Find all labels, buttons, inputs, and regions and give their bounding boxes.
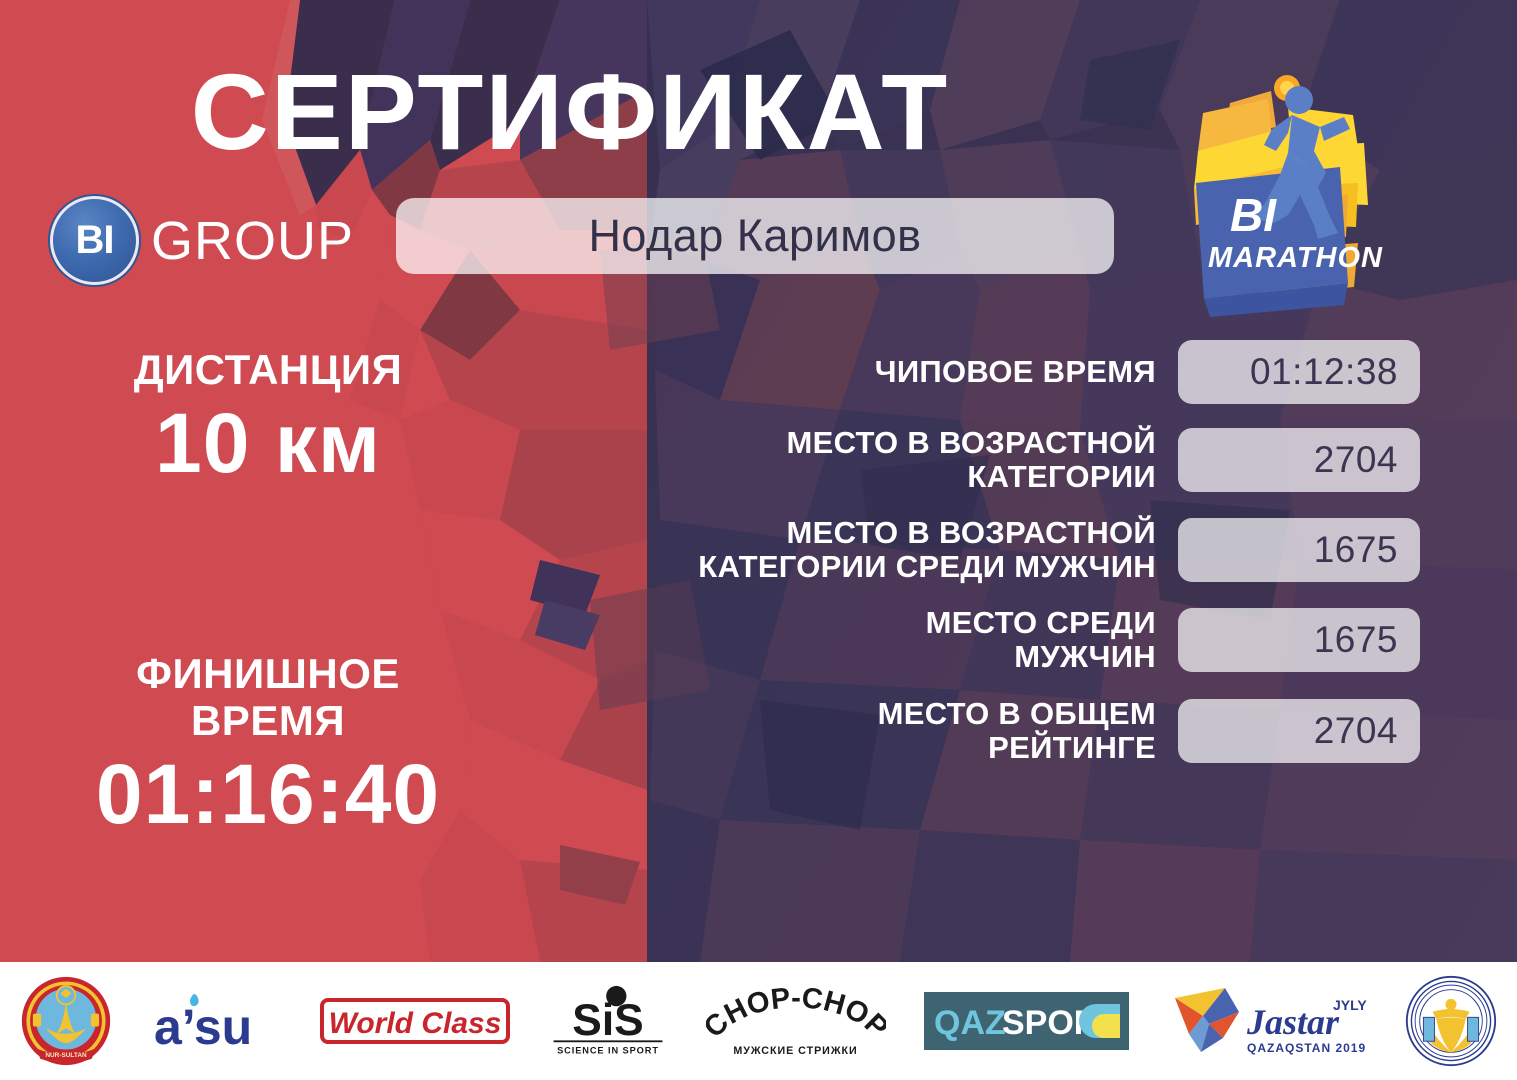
world-class-logo-icon: World Class <box>320 990 510 1052</box>
jastar-wordmark: Jastar <box>1246 1002 1340 1042</box>
distance-label: ДИСТАНЦИЯ <box>8 346 528 393</box>
bi-marathon-logo: BI MARATHON <box>1168 55 1408 320</box>
bi-group-logo: BI GROUP <box>50 196 354 285</box>
sponsor-world-class: World Class <box>320 971 510 1071</box>
sponsor-nur-sultan-emblem: NUR-SULTAN <box>20 975 112 1067</box>
participant-name-field: Нодар Каримов <box>396 198 1114 274</box>
stat-label-age-category-men-place: МЕСТО В ВОЗРАСТНОЙ КАТЕГОРИИ СРЕДИ МУЖЧИ… <box>620 516 1178 584</box>
stat-label-age-category-place: МЕСТО В ВОЗРАСТНОЙ КАТЕГОРИИ <box>620 426 1178 494</box>
svg-text:CHOP-CHOP: CHOP-CHOP <box>706 984 886 1044</box>
nur-sultan-emblem-icon: NUR-SULTAN <box>20 975 112 1067</box>
jastar-superscript: JYLY <box>1333 997 1367 1013</box>
finish-time-block: ФИНИШНОЕ ВРЕМЯ 01:16:40 <box>8 650 528 840</box>
sponsor-jastar-jyly: Jastar JYLY QAZAQSTAN 2019 <box>1167 971 1367 1071</box>
sponsor-bar: NUR-SULTAN a’su World Class SiS SCIENCE … <box>0 962 1517 1080</box>
participant-name: Нодар Каримов <box>588 210 921 262</box>
sis-logo-icon: SiS SCIENCE IN SPORT <box>548 985 668 1057</box>
stats-panel: ЧИПОВОЕ ВРЕМЯ 01:12:38 МЕСТО В ВОЗРАСТНО… <box>620 340 1420 787</box>
asu-logo-icon: a’su <box>150 986 282 1056</box>
stat-value-age-category-men-place: 1675 <box>1178 518 1420 582</box>
finish-time-value: 01:16:40 <box>8 748 528 840</box>
stat-row: МЕСТО В ОБЩЕМ РЕЙТИНГЕ 2704 <box>620 697 1420 765</box>
bi-group-wordmark: GROUP <box>151 210 354 272</box>
chop-chop-logo-icon: CHOP-CHOP МУЖСКИЕ СТРИЖКИ <box>706 984 886 1058</box>
distance-value: 10 км <box>8 397 528 489</box>
stat-value-men-place: 1675 <box>1178 608 1420 672</box>
stat-row: МЕСТО В ВОЗРАСТНОЙ КАТЕГОРИИ СРЕДИ МУЖЧИ… <box>620 516 1420 584</box>
nur-sultan-label: NUR-SULTAN <box>45 1052 87 1059</box>
stat-label-chip-time: ЧИПОВОЕ ВРЕМЯ <box>620 355 1178 389</box>
jastar-subtitle: QAZAQSTAN 2019 <box>1247 1041 1366 1055</box>
sponsor-qazsport: QAZ SPORT <box>924 971 1129 1071</box>
qazsport-logo-icon: QAZ SPORT <box>924 992 1129 1050</box>
qazsport-text-qaz: QAZ <box>934 1004 1006 1042</box>
certificate-canvas: СЕРТИФИКАТ BI GROUP Нодар Каримов <box>0 0 1517 1080</box>
sponsor-sis: SiS SCIENCE IN SPORT <box>548 971 668 1071</box>
stat-value-chip-time: 01:12:38 <box>1178 340 1420 404</box>
sponsor-chop-chop: CHOP-CHOP МУЖСКИЕ СТРИЖКИ <box>706 971 886 1071</box>
bi-badge-icon: BI <box>50 196 139 285</box>
marathon-logo-line2: MARATHON <box>1208 242 1383 274</box>
jastar-logo-icon: Jastar JYLY QAZAQSTAN 2019 <box>1167 982 1367 1060</box>
stat-value-overall-place: 2704 <box>1178 699 1420 763</box>
distance-block: ДИСТАНЦИЯ 10 км <box>8 346 528 489</box>
sponsor-ministry-emblem <box>1405 975 1497 1067</box>
stat-row: ЧИПОВОЕ ВРЕМЯ 01:12:38 <box>620 340 1420 404</box>
stat-value-age-category-place: 2704 <box>1178 428 1420 492</box>
sis-tagline: SCIENCE IN SPORT <box>557 1045 659 1055</box>
page-title: СЕРТИФИКАТ <box>0 58 1140 166</box>
stat-label-overall-place: МЕСТО В ОБЩЕМ РЕЙТИНГЕ <box>620 697 1178 765</box>
sponsor-asu: a’su <box>150 971 282 1071</box>
chop-chop-tagline: МУЖСКИЕ СТРИЖКИ <box>733 1045 857 1057</box>
marathon-logo-line1: BI <box>1230 189 1277 241</box>
world-class-wordmark: World Class <box>329 1007 502 1040</box>
asu-wordmark: a’su <box>154 999 252 1055</box>
stat-row: МЕСТО В ВОЗРАСТНОЙ КАТЕГОРИИ 2704 <box>620 426 1420 494</box>
chop-chop-wordmark: CHOP-CHOP <box>706 984 886 1044</box>
ministry-emblem-icon <box>1405 975 1497 1067</box>
stat-row: МЕСТО СРЕДИ МУЖЧИН 1675 <box>620 606 1420 674</box>
sis-wordmark: SiS <box>572 996 643 1045</box>
stat-label-men-place: МЕСТО СРЕДИ МУЖЧИН <box>620 606 1178 674</box>
bi-marathon-logo-art: BI MARATHON <box>1168 55 1408 320</box>
finish-time-label: ФИНИШНОЕ ВРЕМЯ <box>8 650 528 744</box>
